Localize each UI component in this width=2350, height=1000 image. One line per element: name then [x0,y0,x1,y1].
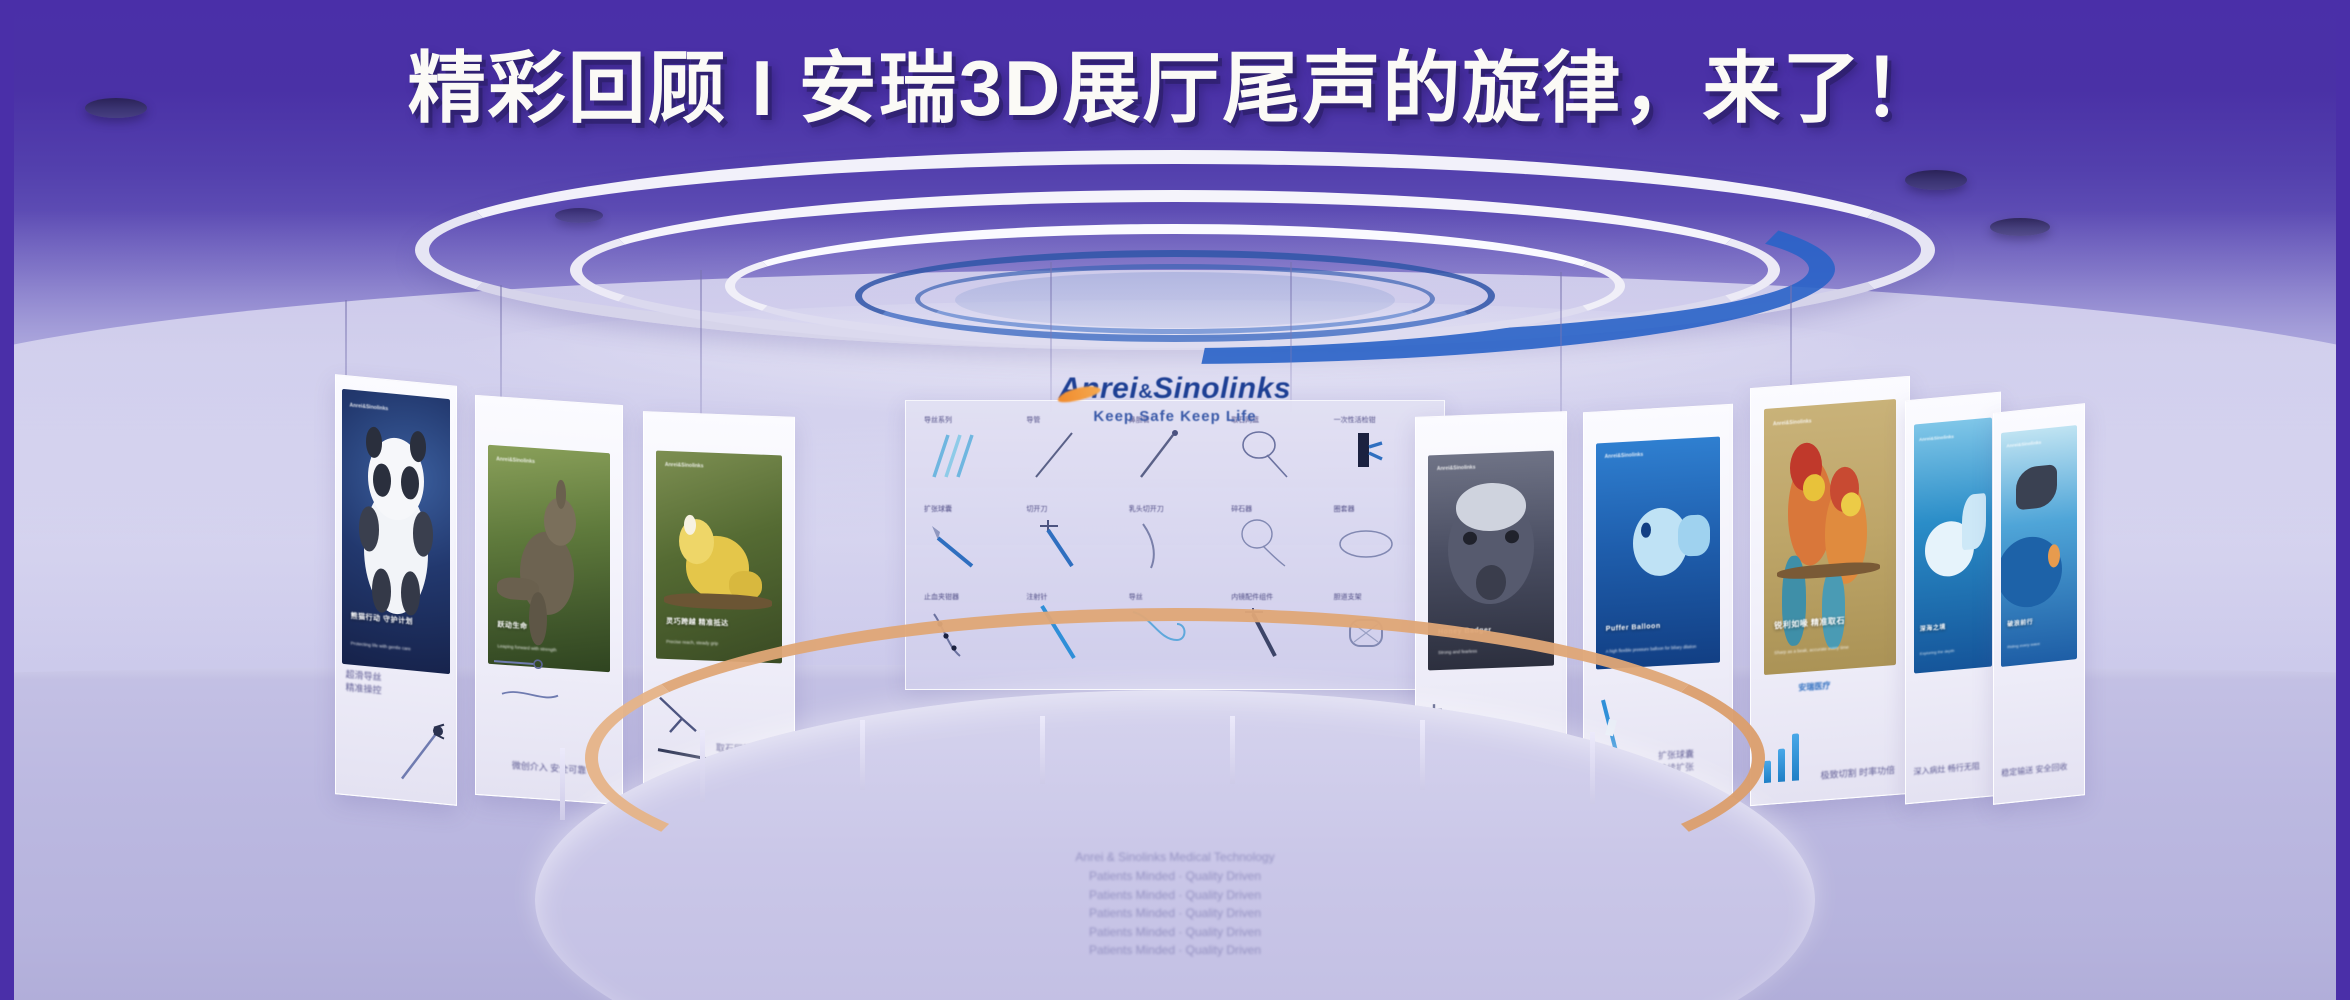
stage-post [1230,716,1235,784]
poster-subtitle: Riding every wave [2007,638,2071,650]
poster-title: 深海之境 [1920,618,1986,633]
chart-bar [1792,733,1799,781]
chart-bar [1778,748,1785,782]
stage-post [1590,732,1595,804]
poster-title: Puffer Balloon [1606,620,1710,633]
seabird-body [2016,464,2057,510]
stage-floor-line: Patients Minded · Quality Driven [735,941,1615,960]
panel-logo-text: 安瑞医疗 [1798,680,1830,693]
poster-subtitle: Protecting life with gentle care [351,641,442,655]
product-label: 圈套器 [1334,504,1355,514]
bird-tail [1822,568,1845,650]
snare-icon [1334,522,1396,570]
product-label: 导丝系列 [924,415,952,425]
product-label: 一次性活检钳 [1334,415,1376,425]
product-cell[interactable]: 取石网篮 [1229,415,1325,498]
stage-post [1040,716,1045,784]
poster-brandmark: Anrei&Sinolinks [1919,433,1954,441]
product-cell[interactable]: 导管 [1024,415,1120,498]
product-cell[interactable]: 切开刀 [1024,504,1120,587]
page-title: 精彩回顾 I 安瑞3D展厅尾声的旋律，来了！ [0,26,2350,138]
product-cell[interactable]: 导丝系列 [922,415,1018,498]
poster-brandmark: Anrei&Sinolinks [2006,440,2041,449]
stat-bar-chart [1764,727,1799,784]
panel-caption: 超滑导丝 精准操控 [346,668,447,704]
pufferfish-eye [1641,522,1651,538]
poster-brandmark: Anrei&Sinolinks [665,462,704,469]
product-label: 导丝 [1129,592,1143,602]
poster-title: 破浪前行 [2007,613,2071,629]
panda-arm [413,511,432,557]
brand-tagline: Keep Safe Keep Life [1059,408,1291,425]
poster-title: 跃动生命 [497,619,600,636]
sphincterotome-icon [1032,516,1084,572]
product-illustration [396,712,452,787]
nasal-tube-icon [1135,429,1187,481]
panel-caption: 深入病灶 畅行无阻 [1914,760,1993,779]
kangaroo-leg [529,592,546,646]
panel-caption: 极致切割 时率功倍 [1821,764,1905,783]
stage-post [860,720,865,790]
product-label: 碎石器 [1231,504,1252,514]
biopsy-forceps-icon [1344,427,1388,483]
brand-ampersand: & [1138,381,1153,403]
product-label: 切开刀 [1026,504,1047,514]
poster-brandmark: Anrei&Sinolinks [496,456,535,465]
product-cell[interactable]: 碎石器 [1229,504,1325,587]
panda-leg [372,568,390,614]
brand-logo: Anrei&Sinolinks Keep Safe Keep Life [1059,372,1291,425]
poster-art-kangaroo: Anrei&Sinolinks 跃动生命 Leaping forward wit… [488,444,611,671]
stage-floor-line: Patients Minded · Quality Driven [735,923,1615,942]
stage-floor-text: Anrei & Sinolinks Medical Technology Pat… [735,848,1615,960]
poster-title: 灵巧跨越 精准抵达 [666,616,772,630]
exhibition-banner: Anrei&Sinolinks 熊猫行动 守护计划 Protecting lif… [0,0,2350,1000]
right-border [2336,0,2350,1000]
panel-caption: 稳定输送 安全回收 [2001,760,2077,780]
panda-ear [410,431,426,463]
product-label: 扩张球囊 [924,504,952,514]
stage-floor-line: Anrei & Sinolinks Medical Technology [735,848,1615,867]
poster-subtitle: Exploring the depth [1920,645,1986,656]
ceiling-dome-center [955,272,1395,328]
ceiling-ring-assembly [395,150,1955,410]
product-label: 内镜配件组件 [1231,592,1273,602]
product-cell[interactable]: 一次性活检钳 [1332,415,1428,498]
product-label: 注射针 [1026,592,1047,602]
pufferfish-tail [1678,514,1710,557]
papillotome-icon [1137,518,1185,572]
stage-post [700,730,705,802]
lithotripter-icon [1233,516,1291,572]
chart-bar [1764,760,1771,783]
poster-art-bee-eaters: Anrei&Sinolinks 锐利如喙 精准取石 Sharp as a bea… [1764,399,1897,675]
product-illustration [488,647,578,729]
product-label: 乳头切开刀 [1129,504,1164,514]
product-cell[interactable]: 圈套器 [1332,504,1428,587]
poster-subtitle: A high flexible pressure balloon for bil… [1606,643,1710,654]
brand-name: Anrei&Sinolinks [1059,372,1291,406]
product-label: 导管 [1026,415,1040,425]
stage-floor-line: Patients Minded · Quality Driven [735,886,1615,905]
poster-panel-panda[interactable]: Anrei&Sinolinks 熊猫行动 守护计划 Protecting lif… [335,374,457,806]
poster-brandmark: Anrei&Sinolinks [1605,452,1644,460]
poster-panel-wave[interactable]: Anrei&Sinolinks 破浪前行 Riding every wave 稳… [1993,403,2085,805]
poster-subtitle: Precise reach, steady grip [666,639,772,648]
panda-eye-patch [401,466,418,501]
poster-panel-ocean[interactable]: Anrei&Sinolinks 深海之境 Exploring the depth… [1905,392,2001,805]
poster-panel-bee-eaters[interactable]: Anrei&Sinolinks 锐利如喙 精准取石 Sharp as a bea… [1750,376,1910,806]
stage-floor-line: Patients Minded · Quality Driven [735,867,1615,886]
stone-basket-icon [1233,427,1293,483]
poster-brandmark: Anrei&Sinolinks [350,403,389,413]
whale-tail [1962,493,1986,550]
stage-floor-line: Patients Minded · Quality Driven [735,904,1615,923]
panda-ear [366,426,382,458]
poster-art-ocean: Anrei&Sinolinks 深海之境 Exploring the depth [1914,418,1993,674]
product-cell[interactable]: 扩张球囊 [922,504,1018,587]
dilation-balloon-icon [926,518,984,572]
panda-arm [359,506,378,552]
product-cell[interactable]: 鼻胆管 [1127,415,1223,498]
panda-eye-patch [373,463,390,498]
poster-art-wave: Anrei&Sinolinks 破浪前行 Riding every wave [2001,425,2077,667]
catheter-icon [1032,429,1084,481]
poster-brandmark: Anrei&Sinolinks [1773,419,1812,428]
stage-post [560,748,565,820]
poster-art-panda: Anrei&Sinolinks 熊猫行动 守护计划 Protecting lif… [342,388,450,674]
product-cell[interactable]: 乳头切开刀 [1127,504,1223,587]
badger-eye [1505,530,1519,543]
poster-art-balloon: Anrei&Sinolinks Puffer Balloon A high fl… [1596,437,1720,670]
panda-leg [401,571,419,617]
product-label: 胆道支架 [1334,592,1362,602]
left-border [0,0,14,1000]
stage-post [1420,720,1425,790]
poster-art-frog: Anrei&Sinolinks 灵巧跨越 精准抵达 Precise reach,… [656,451,782,663]
brand-name-part2: Sinolinks [1153,372,1291,405]
poster-brandmark: Anrei&Sinolinks [1437,465,1476,472]
guidewire-bundle-icon [928,429,984,481]
product-label: 止血夹钳器 [924,592,959,602]
